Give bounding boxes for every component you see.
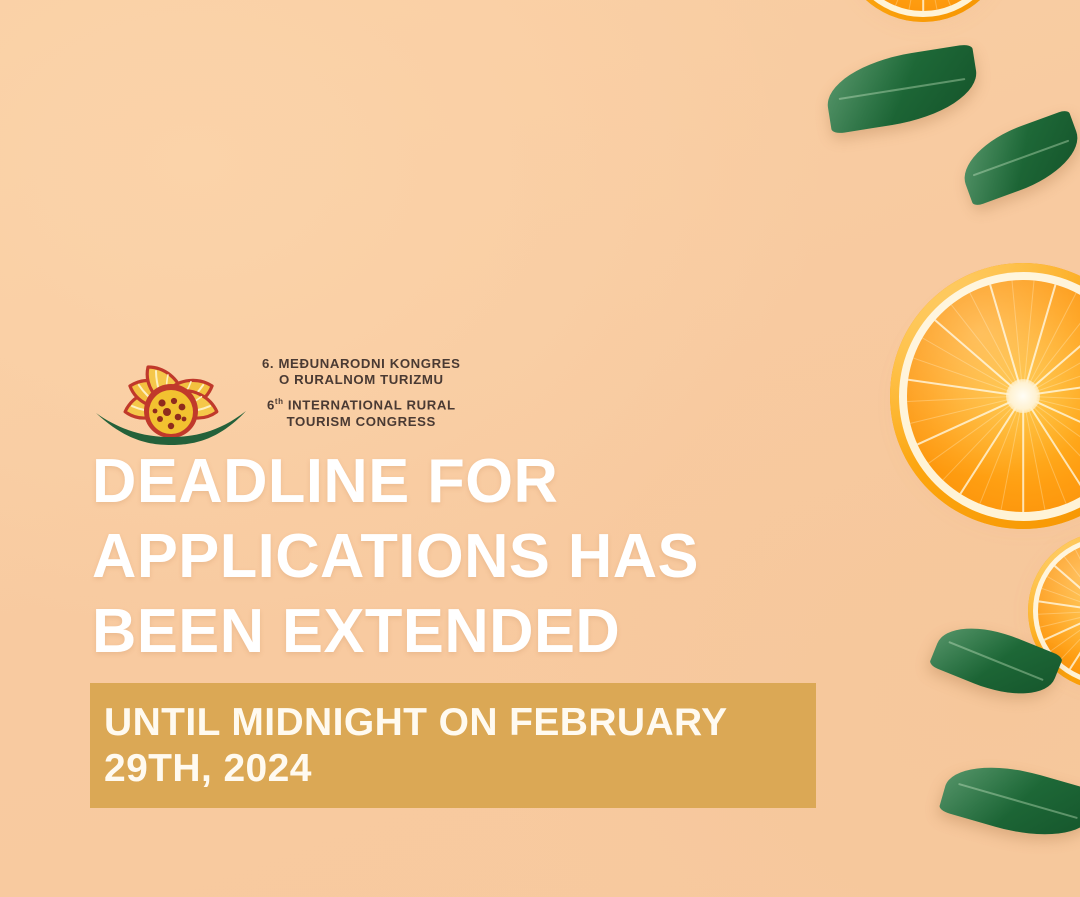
headline-line-3: BEEN EXTENDED [92,594,825,669]
deadline-banner: UNTIL MIDNIGHT ON FEBRUARY 29TH, 2024 [90,683,816,808]
congress-logo: 6. MEĐUNARODNI KONGRES O RURALNOM TURIZM… [92,341,461,445]
leaf-gloss [938,751,1080,851]
deadline-line-1: UNTIL MIDNIGHT ON FEBRUARY [104,700,816,746]
logo-flower-center [144,384,198,438]
headline-line-2: APPLICATIONS HAS [92,519,825,594]
deadline-line-2: 29TH, 2024 [104,746,816,792]
leaf-gloss [953,109,1080,207]
leaf-bottom-2 [938,751,1080,851]
logo-english-line-1-text: INTERNATIONAL RURAL [284,398,456,413]
promo-poster: 6. MEĐUNARODNI KONGRES O RURALNOM TURIZM… [0,0,1080,897]
logo-wordmark: 6. MEĐUNARODNI KONGRES O RURALNOM TURIZM… [262,356,461,430]
leaf-gloss [822,44,983,135]
leaf-top-1 [822,44,983,135]
logo-english-line-2: TOURISM CONGRESS [262,414,461,430]
headline-line-1: DEADLINE FOR [92,444,825,519]
logo-english-ordinal-suffix: th [275,397,284,406]
logo-croatian-line-1: 6. MEĐUNARODNI KONGRES [262,356,461,372]
logo-english-line-1: 6th INTERNATIONAL RURAL [262,397,461,413]
logo-croatian-line-2: O RURALNOM TURIZMU [262,372,461,388]
sunflower-logo-mark [92,341,250,445]
headline: DEADLINE FOR APPLICATIONS HAS BEEN EXTEN… [92,444,832,669]
leaf-top-2 [953,109,1080,207]
logo-english-ordinal: 6 [267,398,275,413]
logo-text-spacer [262,388,461,397]
